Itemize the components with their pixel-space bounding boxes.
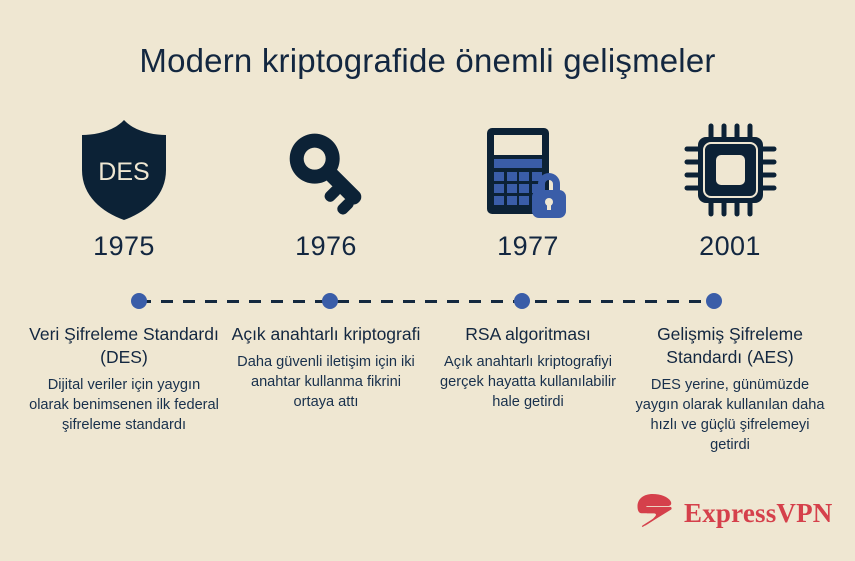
timeline-text-row: Veri Şifreleme Standardı (DES) Dijital v… bbox=[23, 323, 833, 455]
timeline-headline-4: Gelişmiş Şifreleme Standardı (AES) bbox=[633, 323, 827, 369]
timeline-entry-4: Gelişmiş Şifreleme Standardı (AES) DES y… bbox=[629, 323, 831, 455]
shield-icon-label: DES bbox=[98, 158, 149, 186]
timeline-entry-1: Veri Şifreleme Standardı (DES) Dijital v… bbox=[23, 323, 225, 435]
timeline-headline-2: Açık anahtarlı kriptografi bbox=[229, 323, 423, 346]
calculator-lock-icon bbox=[477, 118, 579, 222]
timeline-dashed-line bbox=[139, 300, 715, 303]
shield-des-icon: DES bbox=[78, 118, 170, 222]
timeline-description-3: Açık anahtarlı kriptografiyi gerçek haya… bbox=[431, 352, 625, 412]
expressvpn-logo[interactable]: ExpressVPN bbox=[634, 492, 833, 533]
microchip-icon bbox=[679, 118, 781, 222]
timeline-entry-2: Açık anahtarlı kriptografi Daha güvenli … bbox=[225, 323, 427, 412]
timeline-column-1: DES 1975 bbox=[23, 118, 225, 262]
timeline-year-1: 1975 bbox=[93, 230, 155, 262]
timeline-headline-3: RSA algoritması bbox=[431, 323, 625, 346]
page-title: Modern kriptografide önemli gelişmeler bbox=[0, 41, 855, 81]
timeline-description-1: Dijital veriler için yaygın olarak benim… bbox=[27, 375, 221, 435]
timeline-track bbox=[0, 293, 855, 309]
timeline-column-4: 2001 bbox=[629, 118, 831, 262]
timeline-year-4: 2001 bbox=[699, 230, 761, 262]
infographic-canvas: Modern kriptografide önemli gelişmeler D… bbox=[0, 0, 855, 561]
timeline-description-2: Daha güvenli iletişim için iki anahtar k… bbox=[229, 352, 423, 412]
key-icon bbox=[280, 118, 372, 222]
expressvpn-e-mark-icon bbox=[634, 492, 674, 533]
timeline-node-1[interactable] bbox=[131, 293, 147, 309]
timeline-column-3: 1977 bbox=[427, 118, 629, 262]
timeline-year-2: 1976 bbox=[295, 230, 357, 262]
timeline-node-2[interactable] bbox=[322, 293, 338, 309]
timeline-headline-1: Veri Şifreleme Standardı (DES) bbox=[27, 323, 221, 369]
expressvpn-wordmark: ExpressVPN bbox=[684, 498, 833, 528]
timeline-year-3: 1977 bbox=[497, 230, 559, 262]
timeline-node-4[interactable] bbox=[706, 293, 722, 309]
timeline-column-2: 1976 bbox=[225, 118, 427, 262]
timeline-node-3[interactable] bbox=[514, 293, 530, 309]
timeline-description-4: DES yerine, günümüzde yaygın olarak kull… bbox=[633, 375, 827, 455]
timeline-entry-3: RSA algoritması Açık anahtarlı kriptogra… bbox=[427, 323, 629, 412]
timeline-icons-row: DES 1975 1976 bbox=[23, 118, 833, 262]
